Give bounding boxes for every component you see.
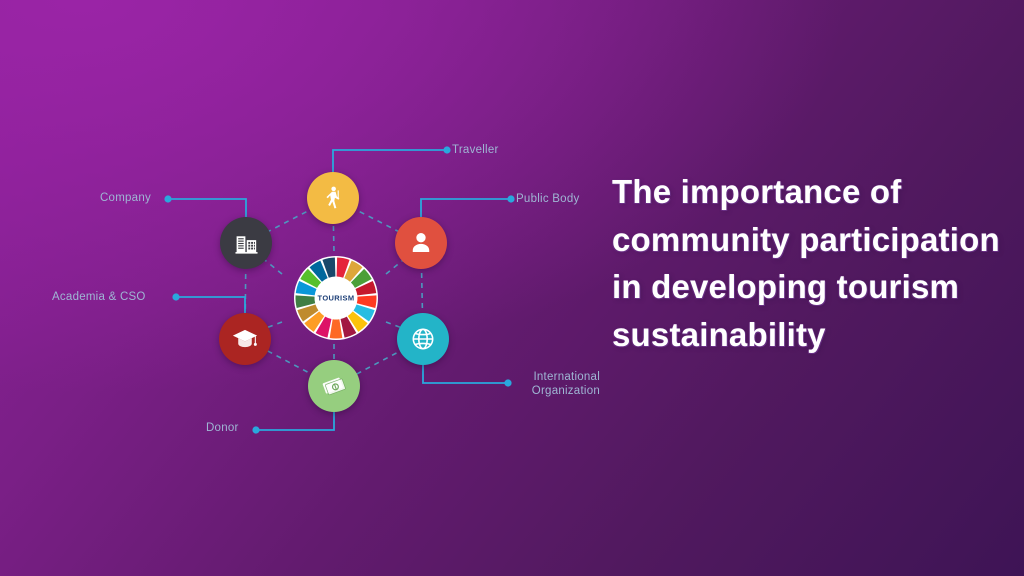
- stakeholder-diagram: TOURISM Traveller Public Body Internatio…: [0, 0, 640, 576]
- globe-icon: [409, 325, 437, 353]
- node-public-body[interactable]: [395, 217, 447, 269]
- label-academia-cso: Academia & CSO: [52, 290, 146, 304]
- slide-canvas: TOURISM Traveller Public Body Internatio…: [0, 0, 1024, 576]
- label-international-organization: International Organization: [512, 370, 600, 398]
- banknotes-icon: [320, 372, 348, 400]
- graduation-cap-icon: [231, 325, 259, 353]
- node-international-organization[interactable]: [397, 313, 449, 365]
- label-traveller: Traveller: [452, 143, 499, 157]
- node-donor[interactable]: [308, 360, 360, 412]
- person-icon: [408, 230, 434, 256]
- label-donor: Donor: [206, 421, 239, 435]
- node-company[interactable]: [220, 217, 272, 269]
- slide-title: The importance of community participatio…: [612, 168, 1002, 358]
- label-public-body: Public Body: [516, 192, 579, 206]
- office-buildings-icon: [233, 230, 260, 257]
- node-academia-cso[interactable]: [219, 313, 271, 365]
- hiker-icon: [320, 185, 346, 211]
- node-traveller[interactable]: [307, 172, 359, 224]
- sdg-wheel-segments: [294, 256, 378, 340]
- sdg-color-wheel: TOURISM: [294, 256, 378, 340]
- label-company: Company: [100, 191, 151, 205]
